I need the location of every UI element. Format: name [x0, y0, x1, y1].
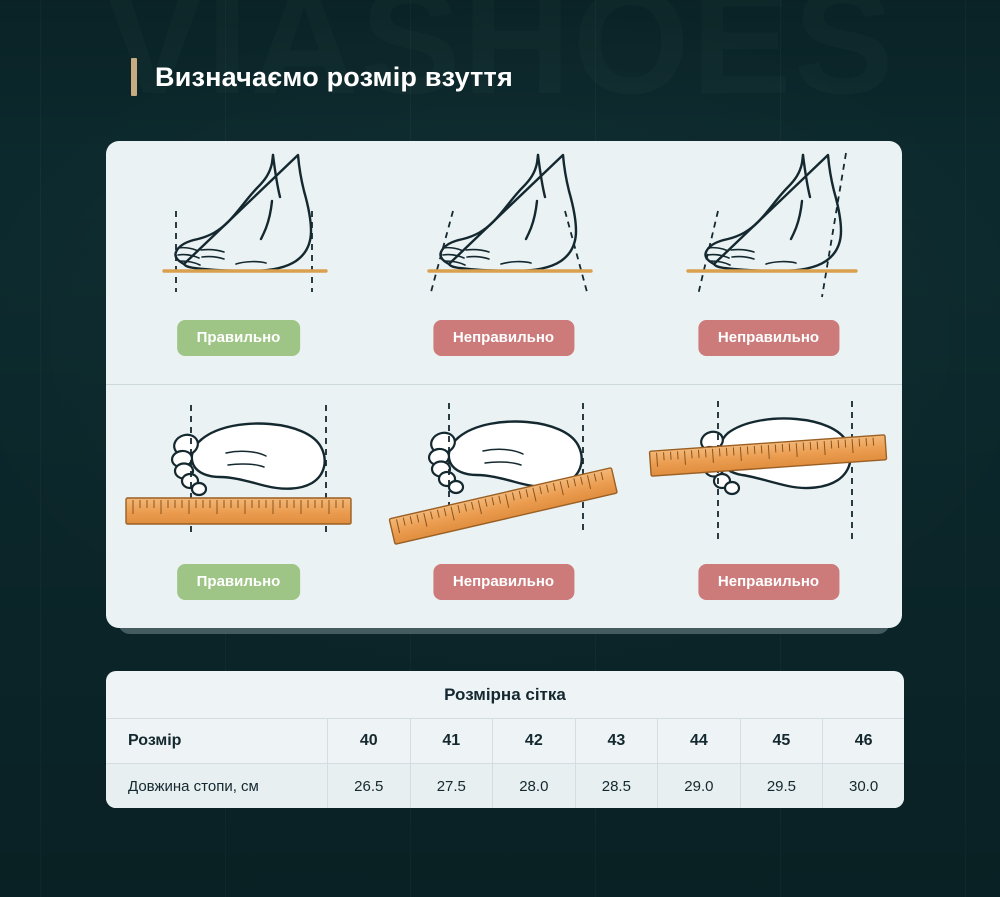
table-cell: 28.5	[575, 764, 658, 809]
table-cell: 28.0	[493, 764, 576, 809]
status-badge: Правильно	[177, 564, 301, 600]
size-chart-title: Розмірна сітка	[106, 671, 904, 718]
diagram-row-side-view: Правильно	[106, 141, 902, 384]
table-cell: 27.5	[410, 764, 493, 809]
foot-sole-ruler-tilted-icon	[371, 393, 636, 553]
diagram-cell-side-wrong-tilted: Неправильно	[636, 141, 901, 384]
page-header: Визначаємо розмір взуття	[131, 58, 513, 96]
diagram-row-sole-view: Правильно	[106, 385, 902, 628]
table-cell: 29.0	[658, 764, 741, 809]
title-accent-bar	[131, 58, 137, 96]
foot-sole-ruler-straight-icon	[106, 393, 371, 553]
table-cell: 45	[740, 719, 823, 764]
diagram-cell-sole-wrong-tilted: Неправильно	[371, 385, 636, 628]
table-cell: 30.0	[823, 764, 904, 809]
foot-side-outward-lines-icon	[371, 149, 636, 309]
diagram-cell-sole-wrong-ontop: Неправильно	[636, 385, 901, 628]
status-badge: Неправильно	[433, 320, 574, 356]
page-title: Визначаємо розмір взуття	[155, 62, 513, 93]
status-badge: Неправильно	[433, 564, 574, 600]
diagram-cell-side-correct: Правильно	[106, 141, 371, 384]
table-row-label: Довжина стопи, см	[106, 764, 328, 809]
table-cell: 41	[410, 719, 493, 764]
status-badge: Неправильно	[698, 320, 839, 356]
size-chart-table: Розмірна сітка Розмір 40 41 42 43 44 45 …	[106, 671, 904, 808]
table-row: Довжина стопи, см 26.5 27.5 28.0 28.5 29…	[106, 764, 904, 809]
diagram-cell-side-wrong-splayed: Неправильно	[371, 141, 636, 384]
table-cell: 43	[575, 719, 658, 764]
foot-side-vertical-lines-icon	[106, 149, 371, 309]
table-cell: 44	[658, 719, 741, 764]
foot-side-inward-lines-icon	[636, 149, 901, 309]
status-badge: Неправильно	[698, 564, 839, 600]
foot-sole-ruler-ontop-icon	[636, 393, 901, 553]
table-row-label: Розмір	[106, 719, 328, 764]
table-cell: 42	[493, 719, 576, 764]
table-cell: 46	[823, 719, 904, 764]
diagram-card: Правильно	[106, 141, 902, 628]
diagram-cell-sole-correct: Правильно	[106, 385, 371, 628]
status-badge: Правильно	[177, 320, 301, 356]
table-cell: 29.5	[740, 764, 823, 809]
table-cell: 40	[328, 719, 411, 764]
table-row: Розмір 40 41 42 43 44 45 46	[106, 719, 904, 764]
table-cell: 26.5	[328, 764, 411, 809]
